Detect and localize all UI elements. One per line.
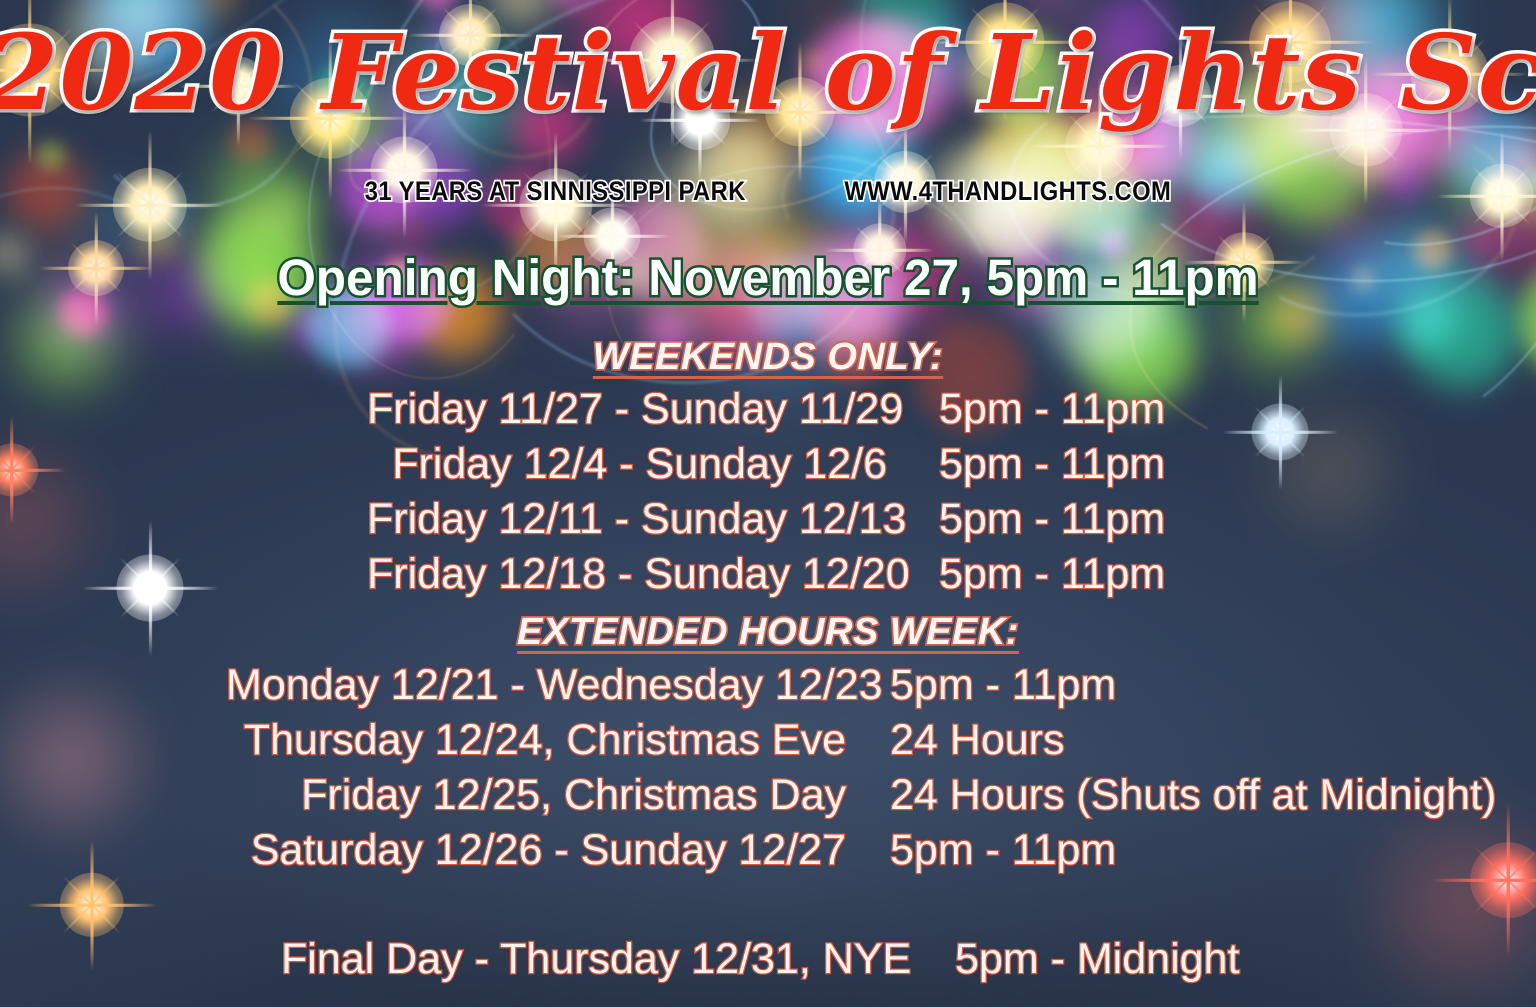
schedule-list-final-day: Final Day - Thursday 12/31, NYE5pm - Mid… xyxy=(0,932,1536,987)
schedule-row-hours: 5pm - 11pm xyxy=(939,547,1169,602)
subtitle-years-park: 31 YEARS AT SINNISSIPPI PARK xyxy=(365,176,746,207)
schedule-row: Friday 12/4 - Sunday 12/65pm - 11pm xyxy=(0,437,1536,492)
schedule-row-dates: Monday 12/21 - Wednesday 12/23 xyxy=(226,658,846,713)
schedule-row: Monday 12/21 - Wednesday 12/235pm - 11pm xyxy=(0,658,1536,713)
section-heading-weekends: WEEKENDS ONLY: xyxy=(0,336,1536,379)
opening-night-banner: Opening Night: November 27, 5pm - 11pm xyxy=(23,248,1513,307)
festival-of-lights-poster: 2020 Festival of Lights Schedule 31 YEAR… xyxy=(0,0,1536,1007)
schedule-row-hours: 5pm - 11pm xyxy=(890,658,1310,713)
schedule-row-hours: 5pm - 11pm xyxy=(939,437,1169,492)
schedule-row-dates: Friday 12/4 - Sunday 12/6 xyxy=(367,437,887,492)
schedule-row: Saturday 12/26 - Sunday 12/275pm - 11pm xyxy=(0,823,1536,878)
schedule-row-dates: Friday 12/18 - Sunday 12/20 xyxy=(367,547,887,602)
schedule-row-dates: Final Day - Thursday 12/31, NYE xyxy=(281,932,881,987)
schedule-row: Friday 12/25, Christmas Day24 Hours (Shu… xyxy=(0,768,1536,823)
subtitle-website: WWW.4THANDLIGHTS.COM xyxy=(844,176,1171,207)
schedule-row-hours: 24 Hours (Shuts off at Midnight) xyxy=(890,768,1310,823)
schedule-row-hours: 5pm - 11pm xyxy=(939,382,1169,437)
schedule-row: Final Day - Thursday 12/31, NYE5pm - Mid… xyxy=(0,932,1536,987)
schedule-row: Thursday 12/24, Christmas Eve24 Hours xyxy=(0,713,1536,768)
schedule-list-weekends: Friday 11/27 - Sunday 11/295pm - 11pmFri… xyxy=(0,382,1536,602)
schedule-row-dates: Friday 12/11 - Sunday 12/13 xyxy=(367,492,887,547)
subtitle-row: 31 YEARS AT SINNISSIPPI PARK WWW.4THANDL… xyxy=(92,176,1444,207)
schedule-row-dates: Saturday 12/26 - Sunday 12/27 xyxy=(226,823,846,878)
schedule-row-dates: Thursday 12/24, Christmas Eve xyxy=(226,713,846,768)
section-heading-extended-hours: EXTENDED HOURS WEEK: xyxy=(0,611,1536,654)
schedule-row-dates: Friday 12/25, Christmas Day xyxy=(226,768,846,823)
schedule-row-hours: 5pm - 11pm xyxy=(939,492,1169,547)
page-title: 2020 Festival of Lights Schedule xyxy=(0,18,1536,127)
schedule-row-dates: Friday 11/27 - Sunday 11/29 xyxy=(367,382,887,437)
schedule-list-extended-hours: Monday 12/21 - Wednesday 12/235pm - 11pm… xyxy=(0,658,1536,878)
schedule-row-hours: 5pm - Midnight xyxy=(955,932,1255,987)
schedule-row: Friday 12/18 - Sunday 12/205pm - 11pm xyxy=(0,547,1536,602)
schedule-row: Friday 12/11 - Sunday 12/135pm - 11pm xyxy=(0,492,1536,547)
schedule-row-hours: 24 Hours xyxy=(890,713,1310,768)
schedule-row-hours: 5pm - 11pm xyxy=(890,823,1310,878)
poster-content: 2020 Festival of Lights Schedule 31 YEAR… xyxy=(0,0,1536,1007)
schedule-row: Friday 11/27 - Sunday 11/295pm - 11pm xyxy=(0,382,1536,437)
